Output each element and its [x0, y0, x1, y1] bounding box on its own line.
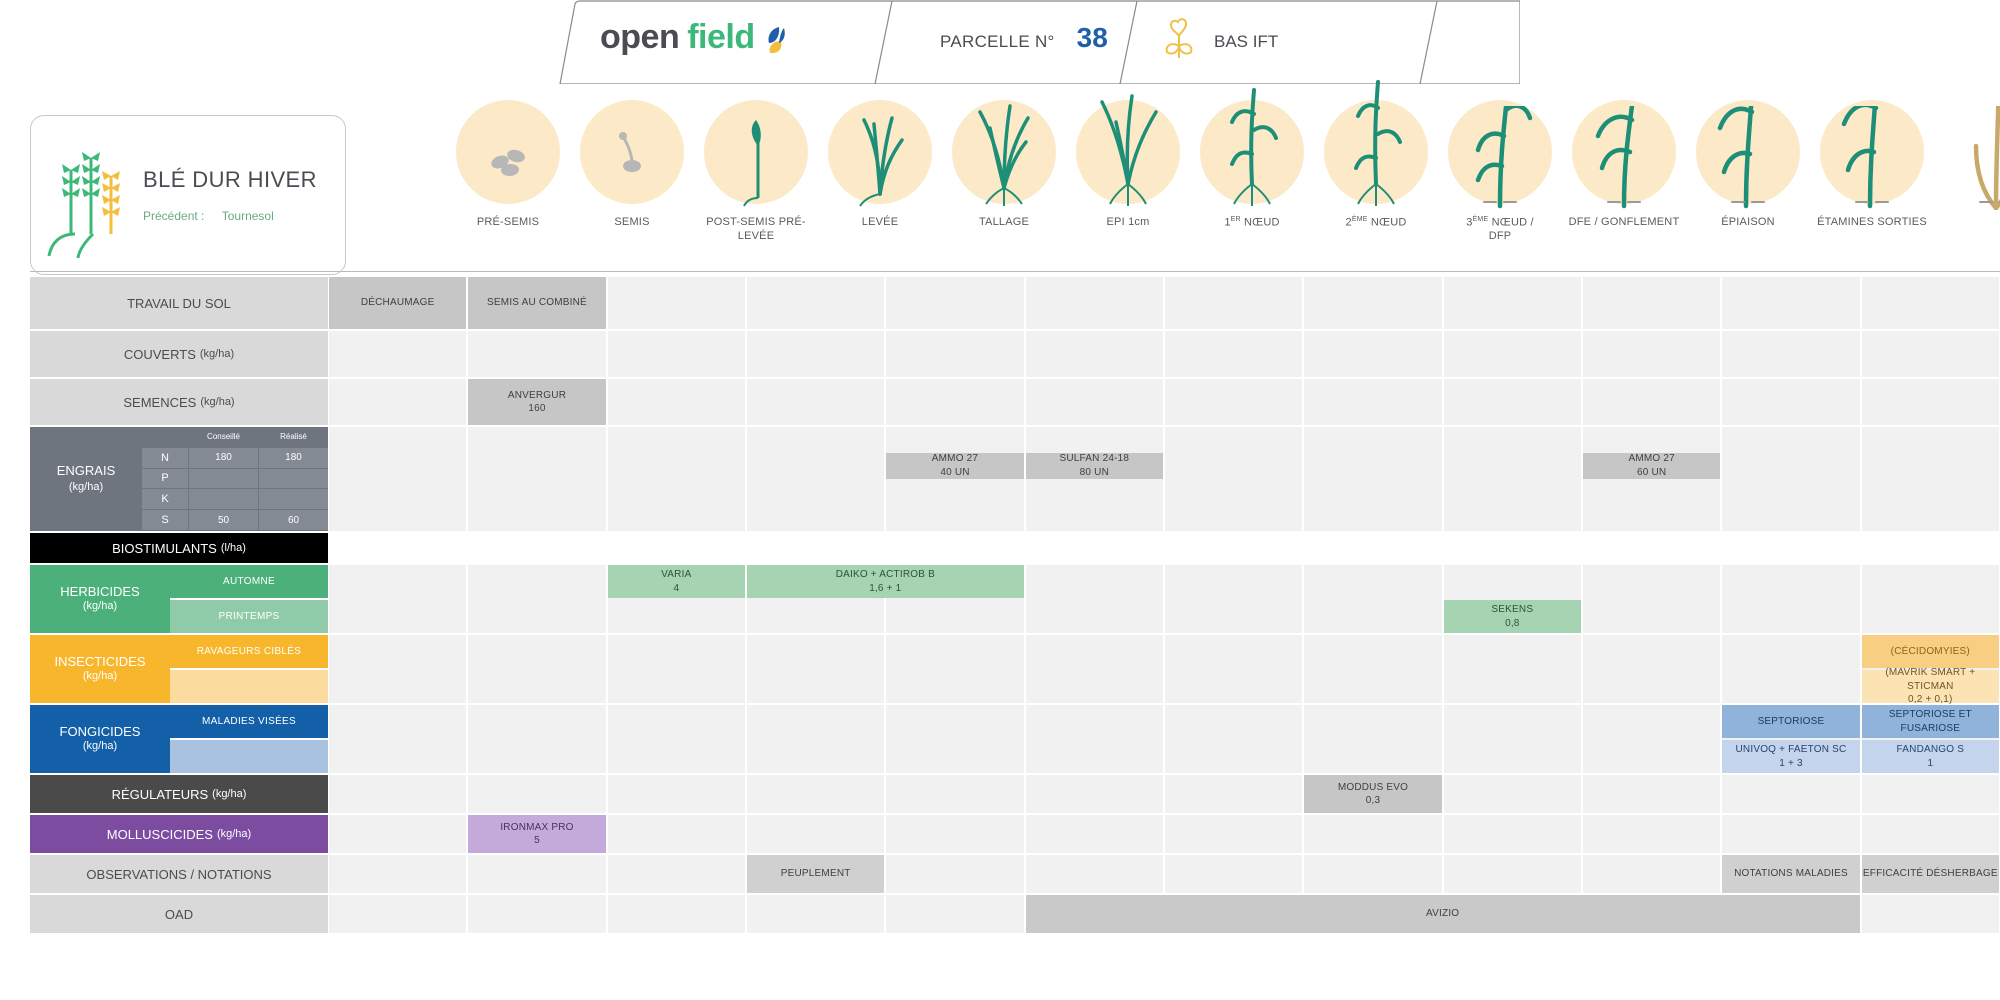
- stage-illustration-heading: [1696, 100, 1800, 204]
- intervention-cell[interactable]: NOTATIONS MALADIES: [1722, 855, 1859, 893]
- brand-text-field: field: [687, 18, 754, 57]
- intervention-cell[interactable]: ANVERGUR160: [468, 379, 605, 425]
- stage-column-6[interactable]: 1ER NŒUD: [1190, 100, 1314, 272]
- row-label-observations: OBSERVATIONS / NOTATIONS: [30, 855, 328, 893]
- cell-product: ANVERGUR: [508, 389, 566, 403]
- empty-slot[interactable]: [1444, 705, 1581, 773]
- empty-slot[interactable]: [329, 705, 466, 773]
- cell-product: SEPTORIOSE ET FUSARIOSE: [1862, 708, 1999, 735]
- empty-slot[interactable]: [1165, 815, 1302, 853]
- empty-slot[interactable]: [886, 775, 1023, 813]
- empty-slot[interactable]: [747, 895, 884, 933]
- engrais-value: [189, 469, 258, 489]
- engrais-value: 50: [189, 510, 258, 530]
- cell-dose: 1: [1927, 757, 1933, 771]
- cell-dose: 5: [534, 834, 540, 848]
- empty-slot[interactable]: [1444, 635, 1581, 703]
- cell-dose: 60 UN: [1637, 466, 1666, 480]
- ift-label: BAS IFT: [1214, 32, 1278, 52]
- brand-text-open: open: [600, 18, 679, 57]
- intervention-cell[interactable]: MODDUS EVO0,3: [1304, 775, 1441, 813]
- empty-slot[interactable]: [747, 775, 884, 813]
- row-label-text: RÉGULATEURS: [112, 787, 209, 802]
- empty-slot[interactable]: [747, 427, 884, 531]
- grid-row-regulateurs: RÉGULATEURS(kg/ha)MODDUS EVO0,3: [30, 775, 2000, 813]
- grid-row-fongicides: FONGICIDES(kg/ha)MALADIES VISÉESSEPTORIO…: [30, 705, 2000, 773]
- empty-slot[interactable]: [1722, 815, 1859, 853]
- empty-slot[interactable]: [1444, 815, 1581, 853]
- empty-slot[interactable]: [1862, 379, 1999, 425]
- cell-product: AVIZIO: [1426, 907, 1459, 921]
- cell-product: EFFICACITÉ DÉSHERBAGE: [1863, 867, 1998, 881]
- empty-slot[interactable]: [468, 427, 605, 531]
- intervention-cell[interactable]: AMMO 2740 UN: [886, 453, 1023, 478]
- row-label-herbicides: HERBICIDES(kg/ha)AUTOMNEPRINTEMPS: [30, 565, 328, 633]
- empty-slot[interactable]: [747, 635, 884, 703]
- empty-slot[interactable]: [1165, 427, 1302, 531]
- empty-slot[interactable]: [886, 635, 1023, 703]
- row-label-text: ENGRAIS(kg/ha): [30, 427, 142, 531]
- empty-slot[interactable]: [608, 427, 745, 531]
- engrais-value: [259, 469, 328, 489]
- row-label-molluscicides: MOLLUSCICIDES(kg/ha): [30, 815, 328, 853]
- stage-column-12[interactable]: [1934, 100, 2000, 272]
- intervention-cell[interactable]: (MAVRIK SMART + STICMAN0,2 + 0,1): [1862, 670, 1999, 703]
- intervention-cell[interactable]: SEMIS AU COMBINÉ: [468, 277, 605, 329]
- row-sublabel: AUTOMNE: [170, 565, 328, 598]
- row-label-text: FONGICIDES(kg/ha): [30, 705, 170, 773]
- cell-dose: 1,6 + 1: [869, 582, 901, 596]
- intervention-cell[interactable]: PEUPLEMENT: [747, 855, 884, 893]
- empty-slot[interactable]: [329, 427, 466, 531]
- empty-slot[interactable]: [1026, 815, 1163, 853]
- cell-product: UNIVOQ + FAETON SC: [1736, 743, 1847, 757]
- cell-product: SEPTORIOSE: [1758, 715, 1825, 729]
- wheat-ears-icon: [45, 130, 137, 260]
- empty-slot[interactable]: [886, 331, 1023, 377]
- empty-slot[interactable]: [1862, 565, 1999, 633]
- empty-slot[interactable]: [468, 565, 605, 633]
- empty-slot[interactable]: [886, 277, 1023, 329]
- grid-row-observations: OBSERVATIONS / NOTATIONSPEUPLEMENTNOTATI…: [30, 855, 2000, 893]
- row-track-regulateurs: MODDUS EVO0,3: [328, 775, 2000, 813]
- intervention-cell[interactable]: SEKENS0,8: [1444, 600, 1581, 633]
- previous-crop: Précédent : Tournesol: [143, 209, 317, 223]
- empty-slot[interactable]: [1304, 815, 1441, 853]
- stage-label: POST-SEMIS PRÉ-LEVÉE: [694, 216, 818, 244]
- empty-slot[interactable]: [608, 331, 745, 377]
- parcelle-number: 38: [1077, 22, 1108, 54]
- empty-slot[interactable]: [1722, 379, 1859, 425]
- grid-row-oad: OADAVIZIO: [30, 895, 2000, 933]
- empty-slot[interactable]: [329, 379, 466, 425]
- empty-slot[interactable]: [1026, 635, 1163, 703]
- stage-illustration-seeds: [456, 100, 560, 204]
- empty-slot[interactable]: [1304, 635, 1441, 703]
- stage-label: ÉPIAISON: [1686, 216, 1810, 230]
- intervention-cell[interactable]: DAIKO + ACTIROB B1,6 + 1: [747, 565, 1024, 598]
- crop-name: BLÉ DUR HIVER: [143, 167, 317, 193]
- empty-slot[interactable]: [608, 775, 745, 813]
- engrais-col-header: [142, 427, 188, 447]
- empty-slot[interactable]: [1165, 775, 1302, 813]
- row-sublabel: MALADIES VISÉES: [170, 705, 328, 738]
- row-label-text: SEMENCES: [123, 395, 196, 410]
- empty-slot[interactable]: [468, 775, 605, 813]
- engrais-element: P: [142, 469, 188, 489]
- stage-column-11[interactable]: ÉTAMINES SORTIES: [1810, 100, 1934, 272]
- empty-slot[interactable]: [1722, 565, 1859, 633]
- previous-crop-label: Précédent :: [143, 209, 204, 223]
- grid-row-engrais: ENGRAIS(kg/ha)ConseilléRéaliséN180180PKS…: [30, 427, 2000, 531]
- row-sublabel: RAVAGEURS CIBLÉS: [170, 635, 328, 668]
- stage-label: LEVÉE: [818, 216, 942, 230]
- empty-slot[interactable]: [1444, 427, 1581, 531]
- stage-label: 2ÈME NŒUD: [1314, 216, 1438, 230]
- stage-label: ÉTAMINES SORTIES: [1810, 216, 1934, 230]
- stage-illustration-germ: [580, 100, 684, 204]
- stage-label: TALLAGE: [942, 216, 1066, 230]
- cell-dose: 1 + 3: [1779, 757, 1803, 771]
- engrais-value: 180: [259, 448, 328, 468]
- intervention-cell[interactable]: SULFAN 24-1880 UN: [1026, 453, 1163, 478]
- empty-slot[interactable]: [1722, 427, 1859, 531]
- empty-slot[interactable]: [1583, 815, 1720, 853]
- empty-slot[interactable]: [329, 895, 466, 933]
- empty-slot[interactable]: [1862, 775, 1999, 813]
- cell-product: DÉCHAUMAGE: [361, 296, 435, 310]
- row-label-text: COUVERTS: [124, 347, 196, 362]
- empty-slot[interactable]: [468, 855, 605, 893]
- empty-slot[interactable]: [747, 815, 884, 853]
- engrais-row-N: N180180: [142, 448, 328, 468]
- empty-slot[interactable]: [886, 895, 1023, 933]
- row-label-text: MOLLUSCICIDES: [107, 827, 213, 842]
- empty-slot[interactable]: [1304, 705, 1441, 773]
- cell-product: AMMO 27: [932, 452, 978, 466]
- engrais-value: [259, 489, 328, 509]
- row-track-couverts: [328, 331, 2000, 377]
- row-label-unit: (l/ha): [221, 542, 246, 554]
- row-track-fongicides: SEPTORIOSESEPTORIOSE ET FUSARIOSEUNIVOQ …: [328, 705, 2000, 773]
- stage-illustration-node1: [1200, 100, 1304, 204]
- row-sublabels: AUTOMNEPRINTEMPS: [170, 565, 328, 633]
- grid-row-herbicides: HERBICIDES(kg/ha)AUTOMNEPRINTEMPSVARIA4D…: [30, 565, 2000, 633]
- row-label-text: OBSERVATIONS / NOTATIONS: [86, 867, 271, 882]
- previous-crop-value: Tournesol: [222, 209, 274, 223]
- empty-slot[interactable]: [1444, 855, 1581, 893]
- empty-slot[interactable]: [1583, 855, 1720, 893]
- engrais-row-K: K: [142, 489, 328, 509]
- cell-dose: 40 UN: [940, 466, 969, 480]
- stage-label: PRÉ-SEMIS: [446, 216, 570, 230]
- empty-slot[interactable]: [1165, 855, 1302, 893]
- empty-slot[interactable]: [468, 705, 605, 773]
- empty-slot[interactable]: [1583, 565, 1720, 633]
- empty-slot[interactable]: [608, 895, 745, 933]
- row-label-semences: SEMENCES(kg/ha): [30, 379, 328, 425]
- empty-slot[interactable]: [1304, 565, 1441, 633]
- stage-label: EPI 1cm: [1066, 216, 1190, 230]
- parcelle-block: PARCELLE N° 38: [940, 22, 1108, 54]
- row-sublabel: [170, 670, 328, 703]
- empty-slot[interactable]: [1583, 775, 1720, 813]
- intervention-cell[interactable]: SEPTORIOSE: [1722, 705, 1859, 738]
- parcelle-label: PARCELLE N°: [940, 32, 1055, 52]
- row-sublabel: PRINTEMPS: [170, 600, 328, 633]
- stage-illustration-boot: [1572, 100, 1676, 204]
- empty-slot[interactable]: [886, 815, 1023, 853]
- empty-slot[interactable]: [1026, 565, 1163, 633]
- grid-row-semences: SEMENCES(kg/ha)ANVERGUR160: [30, 379, 2000, 425]
- row-sublabel: [170, 740, 328, 773]
- empty-slot[interactable]: [329, 565, 466, 633]
- grid-row-insecticides: INSECTICIDES(kg/ha)RAVAGEURS CIBLÉS(CÉCI…: [30, 635, 2000, 703]
- empty-slot[interactable]: [747, 331, 884, 377]
- engrais-element: S: [142, 510, 188, 530]
- empty-slot[interactable]: [329, 855, 466, 893]
- empty-slot[interactable]: [1862, 427, 1999, 531]
- empty-slot[interactable]: [1165, 277, 1302, 329]
- empty-slot[interactable]: [1444, 379, 1581, 425]
- row-label-unit: (kg/ha): [212, 788, 246, 800]
- empty-slot[interactable]: [1862, 331, 1999, 377]
- row-track-engrais: AMMO 2740 UNSULFAN 24-1880 UNAMMO 2760 U…: [328, 427, 2000, 531]
- empty-slot[interactable]: [1722, 277, 1859, 329]
- stage-label: SEMIS: [570, 216, 694, 230]
- engrais-value: 60: [259, 510, 328, 530]
- stage-illustration-node2: [1324, 100, 1428, 204]
- row-track-observations: PEUPLEMENTNOTATIONS MALADIESEFFICACITÉ D…: [328, 855, 2000, 893]
- empty-slot[interactable]: [329, 331, 466, 377]
- row-label-unit: (kg/ha): [200, 348, 234, 360]
- empty-slot[interactable]: [1444, 775, 1581, 813]
- stage-label: 3ÈME NŒUD /DFP: [1438, 216, 1562, 244]
- empty-slot[interactable]: [1862, 815, 1999, 853]
- grid-row-travail_du_sol: TRAVAIL DU SOLDÉCHAUMAGESEMIS AU COMBINÉ: [30, 277, 2000, 329]
- empty-slot[interactable]: [1026, 775, 1163, 813]
- empty-slot[interactable]: [1165, 565, 1302, 633]
- grid-row-biostimulants: BIOSTIMULANTS(l/ha): [30, 533, 2000, 563]
- empty-slot[interactable]: [1444, 331, 1581, 377]
- empty-slot[interactable]: [608, 705, 745, 773]
- empty-slot[interactable]: [1583, 277, 1720, 329]
- grid-row-couverts: COUVERTS(kg/ha): [30, 331, 2000, 377]
- stage-label: DFE / GONFLEMENT: [1562, 216, 1686, 230]
- cell-product: (MAVRIK SMART + STICMAN: [1862, 666, 1999, 693]
- empty-slot[interactable]: [1583, 635, 1720, 703]
- empty-slot[interactable]: [329, 635, 466, 703]
- ift-block: BAS IFT: [1160, 14, 1278, 69]
- engrais-col-header: Réalisé: [259, 427, 328, 447]
- row-track-semences: ANVERGUR160: [328, 379, 2000, 425]
- empty-slot[interactable]: [329, 815, 466, 853]
- empty-slot[interactable]: [747, 277, 884, 329]
- openfield-logo[interactable]: openfield: [600, 18, 797, 57]
- empty-slot[interactable]: [1304, 855, 1441, 893]
- intervention-cell[interactable]: VARIA4: [608, 565, 745, 598]
- empty-slot[interactable]: [1026, 855, 1163, 893]
- header-divider: [30, 271, 2000, 272]
- empty-slot[interactable]: [1722, 331, 1859, 377]
- empty-slot[interactable]: [1304, 277, 1441, 329]
- row-label-couverts: COUVERTS(kg/ha): [30, 331, 328, 377]
- empty-slot[interactable]: [1722, 775, 1859, 813]
- cell-product: SULFAN 24-18: [1059, 452, 1129, 466]
- row-label-insecticides: INSECTICIDES(kg/ha)RAVAGEURS CIBLÉS: [30, 635, 328, 703]
- stage-column-3[interactable]: LEVÉE: [818, 100, 942, 272]
- row-sublabels: RAVAGEURS CIBLÉS: [170, 635, 328, 703]
- engrais-row-P: P: [142, 469, 328, 489]
- intervention-cell[interactable]: (CÉCIDOMYIES): [1862, 635, 1999, 668]
- empty-slot[interactable]: [1165, 331, 1302, 377]
- stage-column-5[interactable]: EPI 1cm: [1066, 100, 1190, 272]
- empty-slot[interactable]: [468, 895, 605, 933]
- row-label-unit: (kg/ha): [200, 396, 234, 408]
- cell-product: FANDANGO S: [1897, 743, 1965, 757]
- row-track-biostimulants: [328, 533, 2000, 563]
- intervention-grid: TRAVAIL DU SOLDÉCHAUMAGESEMIS AU COMBINÉ…: [30, 277, 2000, 935]
- row-label-text: TRAVAIL DU SOL: [127, 296, 231, 311]
- cell-dose: 4: [673, 582, 679, 596]
- empty-slot[interactable]: [1165, 705, 1302, 773]
- growth-stage-strip: PRÉ-SEMIS SEMIS POST-SEMIS PRÉ-LEVÉE LEV…: [446, 100, 2000, 272]
- row-label-text: HERBICIDES(kg/ha): [30, 565, 170, 633]
- stage-illustration-epi1cm: [1076, 100, 1180, 204]
- engrais-row-S: S5060: [142, 510, 328, 530]
- openfield-leaf-icon: [763, 25, 797, 55]
- empty-slot[interactable]: [1304, 331, 1441, 377]
- stage-column-7[interactable]: 2ÈME NŒUD: [1314, 100, 1438, 272]
- engrais-element: N: [142, 448, 188, 468]
- intervention-cell[interactable]: UNIVOQ + FAETON SC1 + 3: [1722, 740, 1859, 773]
- empty-slot[interactable]: [1026, 705, 1163, 773]
- empty-slot[interactable]: [1165, 635, 1302, 703]
- empty-slot[interactable]: [886, 379, 1023, 425]
- empty-slot[interactable]: [608, 815, 745, 853]
- stage-illustration-leaves3: [828, 100, 932, 204]
- empty-slot[interactable]: [1026, 379, 1163, 425]
- empty-slot[interactable]: [608, 855, 745, 893]
- crop-text-block: BLÉ DUR HIVER Précédent : Tournesol: [143, 167, 317, 223]
- stage-column-10[interactable]: ÉPIAISON: [1686, 100, 1810, 272]
- cell-product: DAIKO + ACTIROB B: [836, 568, 935, 582]
- row-label-text: BIOSTIMULANTS: [112, 541, 217, 556]
- empty-slot[interactable]: [747, 705, 884, 773]
- engrais-value: [189, 489, 258, 509]
- stage-column-1[interactable]: SEMIS: [570, 100, 694, 272]
- grid-row-molluscicides: MOLLUSCICIDES(kg/ha)IRONMAX PRO5: [30, 815, 2000, 853]
- intervention-cell[interactable]: IRONMAX PRO5: [468, 815, 605, 853]
- row-track-oad: AVIZIO: [328, 895, 2000, 933]
- empty-slot[interactable]: [1862, 277, 1999, 329]
- row-label-engrais: ENGRAIS(kg/ha)ConseilléRéaliséN180180PKS…: [30, 427, 328, 531]
- row-label-oad: OAD: [30, 895, 328, 933]
- stage-column-0[interactable]: PRÉ-SEMIS: [446, 100, 570, 272]
- empty-slot[interactable]: [1722, 635, 1859, 703]
- engrais-sub-table: ConseilléRéaliséN180180PKS5060: [142, 427, 328, 531]
- empty-slot[interactable]: [608, 277, 745, 329]
- cell-product: SEKENS: [1491, 603, 1533, 617]
- cell-product: (CÉCIDOMYIES): [1891, 645, 1970, 659]
- row-label-unit: (kg/ha): [217, 828, 251, 840]
- row-label-fongicides: FONGICIDES(kg/ha)MALADIES VISÉES: [30, 705, 328, 773]
- empty-slot[interactable]: [468, 635, 605, 703]
- row-track-travail_du_sol: DÉCHAUMAGESEMIS AU COMBINÉ: [328, 277, 2000, 329]
- stage-column-2[interactable]: POST-SEMIS PRÉ-LEVÉE: [694, 100, 818, 272]
- row-track-molluscicides: IRONMAX PRO5: [328, 815, 2000, 853]
- stage-label: 1ER NŒUD: [1190, 216, 1314, 230]
- intervention-cell[interactable]: SEPTORIOSE ET FUSARIOSE: [1862, 705, 1999, 738]
- empty-slot[interactable]: [1304, 379, 1441, 425]
- empty-slot[interactable]: [886, 705, 1023, 773]
- empty-slot[interactable]: [329, 775, 466, 813]
- row-label-text: INSECTICIDES(kg/ha): [30, 635, 170, 703]
- engrais-header-row: ConseilléRéalisé: [142, 427, 328, 447]
- empty-slot[interactable]: [1165, 379, 1302, 425]
- empty-slot[interactable]: [608, 635, 745, 703]
- banner-shape: openfield PARCELLE N° 38: [520, 0, 1520, 84]
- intervention-cell[interactable]: DÉCHAUMAGE: [329, 277, 466, 329]
- header-banner: openfield PARCELLE N° 38: [0, 0, 2000, 84]
- row-track-herbicides: VARIA4DAIKO + ACTIROB B1,6 + 1SEKENS0,8: [328, 565, 2000, 633]
- empty-slot[interactable]: [747, 379, 884, 425]
- intervention-cell[interactable]: AMMO 2760 UN: [1583, 453, 1720, 478]
- row-sublabels: MALADIES VISÉES: [170, 705, 328, 773]
- engrais-element: K: [142, 489, 188, 509]
- row-label-regulateurs: RÉGULATEURS(kg/ha): [30, 775, 328, 813]
- empty-slot[interactable]: [608, 379, 745, 425]
- cell-product: VARIA: [661, 568, 691, 582]
- stage-column-4[interactable]: TALLAGE: [942, 100, 1066, 272]
- cell-product: MODDUS EVO: [1338, 781, 1408, 795]
- stage-column-8[interactable]: 3ÈME NŒUD /DFP: [1438, 100, 1562, 272]
- row-label-biostimulants: BIOSTIMULANTS(l/ha): [30, 533, 328, 563]
- cell-dose: 80 UN: [1080, 466, 1109, 480]
- cell-product: IRONMAX PRO: [500, 821, 573, 835]
- empty-slot[interactable]: [1583, 705, 1720, 773]
- flower-sprout-icon: [1160, 14, 1200, 69]
- empty-slot[interactable]: [1583, 379, 1720, 425]
- empty-slot[interactable]: [1026, 277, 1163, 329]
- stage-illustration-mature: [1944, 100, 2000, 204]
- cell-product: NOTATIONS MALADIES: [1734, 867, 1848, 881]
- row-label-text: OAD: [165, 907, 193, 922]
- crop-card[interactable]: BLÉ DUR HIVER Précédent : Tournesol: [30, 115, 346, 275]
- empty-slot[interactable]: [1026, 331, 1163, 377]
- stage-illustration-sprout: [704, 100, 808, 204]
- stage-column-9[interactable]: DFE / GONFLEMENT: [1562, 100, 1686, 272]
- empty-slot[interactable]: [1862, 895, 1999, 933]
- empty-slot[interactable]: [1304, 427, 1441, 531]
- cell-dose: 160: [528, 402, 545, 416]
- row-label-travail_du_sol: TRAVAIL DU SOL: [30, 277, 328, 329]
- intervention-cell[interactable]: EFFICACITÉ DÉSHERBAGE: [1862, 855, 1999, 893]
- cell-product: PEUPLEMENT: [781, 867, 851, 881]
- row-track-insecticides: (CÉCIDOMYIES)(MAVRIK SMART + STICMAN0,2 …: [328, 635, 2000, 703]
- engrais-value: 180: [189, 448, 258, 468]
- intervention-cell[interactable]: AVIZIO: [1026, 895, 1860, 933]
- empty-slot[interactable]: [1583, 331, 1720, 377]
- stage-illustration-anthesis: [1820, 100, 1924, 204]
- cell-product: AMMO 27: [1628, 452, 1674, 466]
- engrais-col-header: Conseillé: [189, 427, 258, 447]
- empty-slot[interactable]: [1444, 277, 1581, 329]
- empty-slot[interactable]: [886, 855, 1023, 893]
- empty-slot[interactable]: [468, 331, 605, 377]
- cell-product: SEMIS AU COMBINÉ: [487, 296, 587, 310]
- intervention-cell[interactable]: FANDANGO S1: [1862, 740, 1999, 773]
